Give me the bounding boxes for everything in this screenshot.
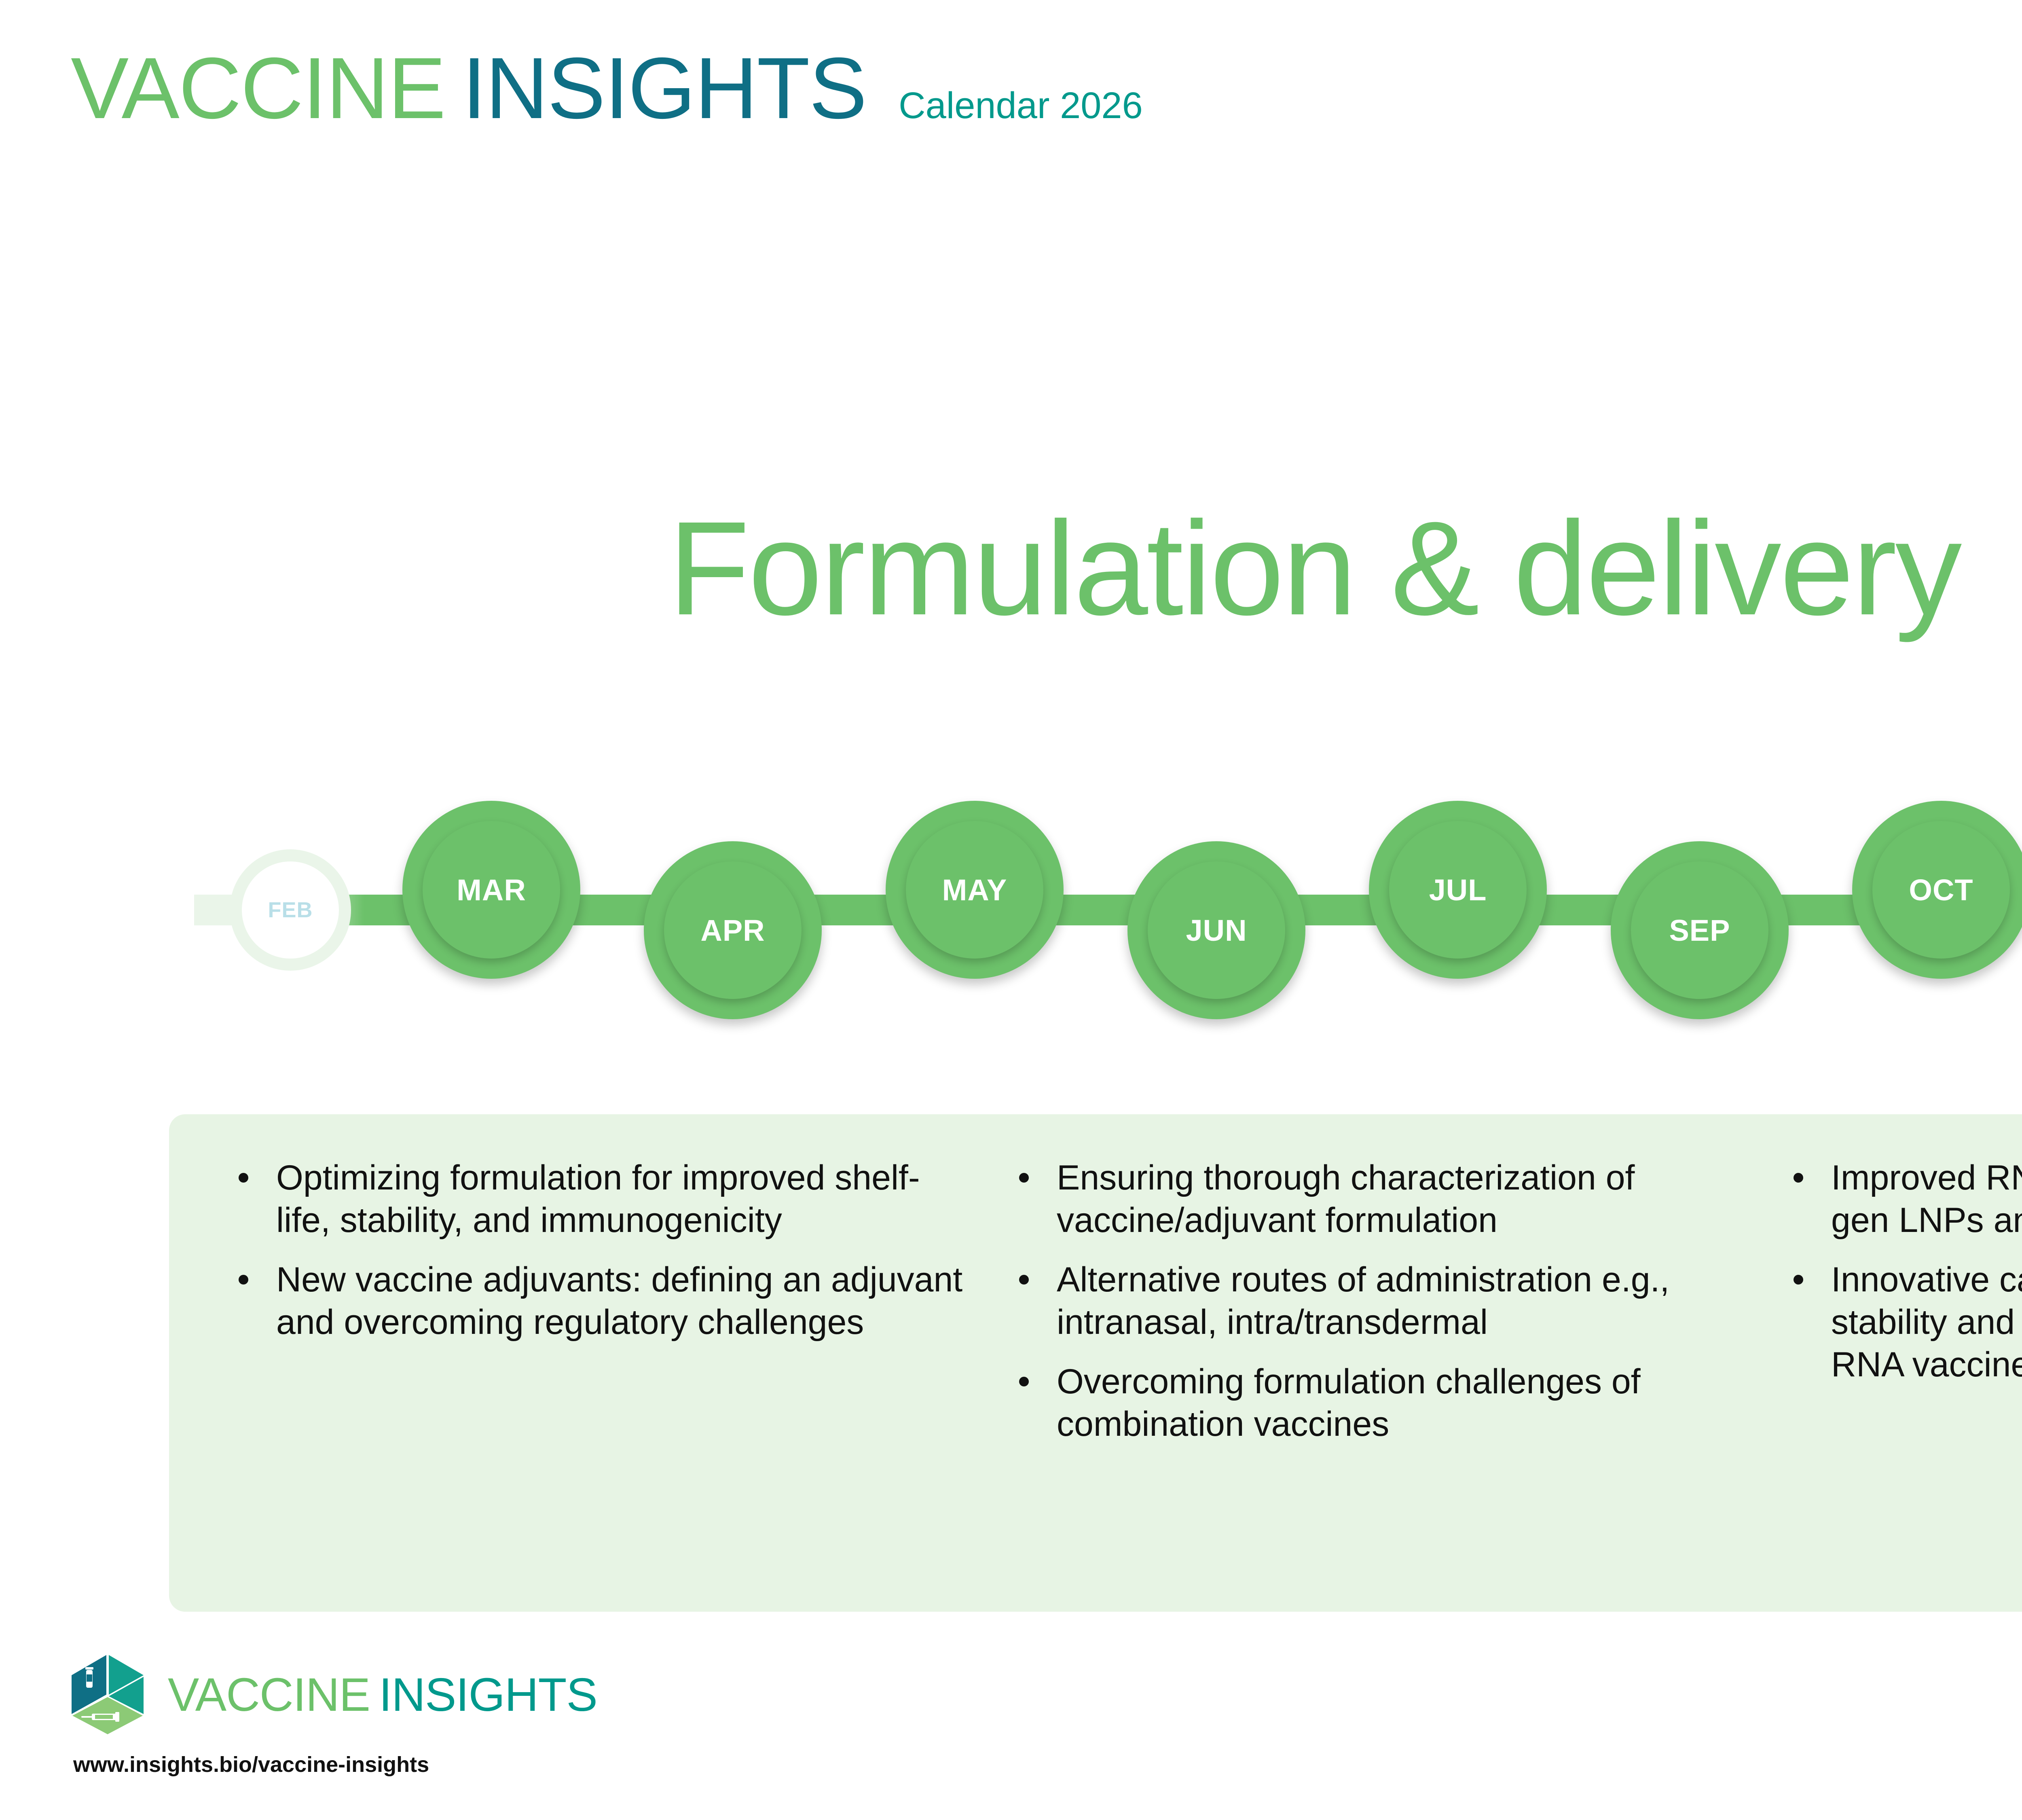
masthead-brand: VACCINE INSIGHTS Calendar 2026 xyxy=(71,44,1143,131)
timeline-month-label: SEP xyxy=(1669,913,1730,948)
timeline-month-oct[interactable]: OCT xyxy=(1852,801,2022,979)
vaccine-insights-hexagon-logo-icon xyxy=(71,1654,144,1735)
topic-bullet: Alternative routes of administration e.g… xyxy=(994,1259,1726,1344)
timeline-month-disc: JUN xyxy=(1148,861,1285,999)
month-timeline: FEBMARAPRMAYJUNJULSEPOCTNOVDEC xyxy=(0,756,2022,1064)
calendar-year-label: Calendar 2026 xyxy=(899,87,1143,124)
timeline-month-jul[interactable]: JUL xyxy=(1369,801,1547,979)
timeline-month-jun[interactable]: JUN xyxy=(1127,841,1305,1019)
footer: VACCINE INSIGHTS www.insights.bio/vaccin… xyxy=(71,1654,597,1777)
timeline-month-may[interactable]: MAY xyxy=(886,801,1064,979)
timeline-month-label: MAR xyxy=(457,873,526,907)
timeline-month-disc: JUL xyxy=(1389,821,1527,959)
timeline-month-sep[interactable]: SEP xyxy=(1611,841,1789,1019)
timeline-month-label: MAY xyxy=(942,873,1007,907)
footer-word-vaccine: VACCINE xyxy=(168,1671,370,1718)
topic-bullet: Innovative cap analogs for improved stab… xyxy=(1768,1259,2022,1386)
timeline-month-label: JUN xyxy=(1186,913,1247,948)
timeline-month-label: APR xyxy=(700,913,765,948)
timeline-month-label: OCT xyxy=(1909,873,1973,907)
timeline-month-disc: MAY xyxy=(906,821,1043,959)
timeline-month-label: FEB xyxy=(268,897,313,923)
timeline-month-label: JUL xyxy=(1429,873,1487,907)
timeline-month-disc: OCT xyxy=(1872,821,2010,959)
masthead-word-insights: INSIGHTS xyxy=(462,44,866,131)
topics-panel: Optimizing formulation for improved shel… xyxy=(169,1114,2022,1612)
timeline-month-mar[interactable]: MAR xyxy=(402,801,580,979)
topic-bullet: Overcoming formulation challenges of com… xyxy=(994,1361,1726,1445)
timeline-month-feb[interactable]: FEB xyxy=(230,849,351,971)
topic-bullet: Optimizing formulation for improved shel… xyxy=(214,1157,966,1242)
topic-bullet: Ensuring thorough characterization of va… xyxy=(994,1157,1726,1242)
masthead-word-vaccine: VACCINE xyxy=(71,44,445,131)
timeline-month-disc: SEP xyxy=(1631,861,1768,999)
page-title: Formulation & delivery xyxy=(0,502,2022,635)
timeline-month-disc: FEB xyxy=(242,861,339,959)
footer-wordmark: VACCINE INSIGHTS xyxy=(168,1671,597,1718)
footer-word-insights: INSIGHTS xyxy=(379,1671,597,1718)
topics-column-3: Improved RNA delivery systems—next-gen L… xyxy=(1742,1114,2022,1612)
footer-url[interactable]: www.insights.bio/vaccine-insights xyxy=(73,1752,597,1777)
topics-column-2: Ensuring thorough characterization of va… xyxy=(982,1114,1742,1612)
footer-logo-row: VACCINE INSIGHTS xyxy=(71,1654,597,1735)
timeline-month-apr[interactable]: APR xyxy=(644,841,822,1019)
topics-column-1: Optimizing formulation for improved shel… xyxy=(169,1114,982,1612)
timeline-month-disc: APR xyxy=(664,861,802,999)
timeline-month-disc: MAR xyxy=(423,821,560,959)
topic-bullet: New vaccine adjuvants: defining an adjuv… xyxy=(214,1259,966,1344)
topic-bullet: Improved RNA delivery systems—next-gen L… xyxy=(1768,1157,2022,1242)
